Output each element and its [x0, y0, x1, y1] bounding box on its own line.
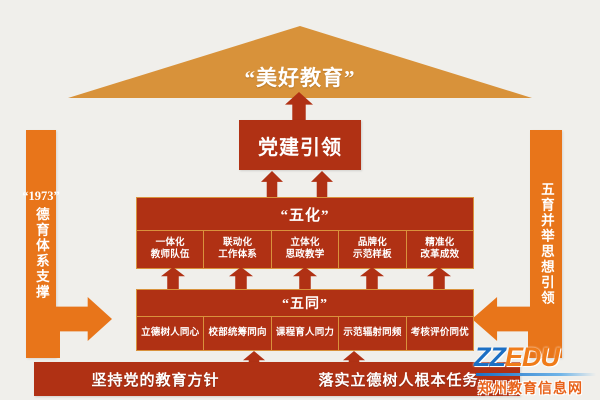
wuhua-cell-line1: 联动化 — [223, 238, 252, 250]
wuhua-title: “五化” — [137, 198, 473, 230]
wuhua-cell-line2: 思政教学 — [286, 250, 325, 262]
wuhua-cell-line2: 示范样板 — [353, 250, 392, 262]
wuhua-cells: 一体化 教师队伍 联动化 工作体系 立体化 思政教学 品牌化 示范样板 精准化 … — [137, 230, 473, 269]
wutong-cell[interactable]: 立德树人同心 — [137, 317, 204, 351]
arrow-up-wutong-to-wuhua-1-icon — [161, 267, 185, 289]
arrow-up-wutong-to-wuhua-4-icon — [360, 267, 384, 289]
pillar-right-label: 五育并举思想引领 — [537, 182, 555, 306]
pillar-left-label: 德育体系支撑 — [32, 207, 50, 300]
wuhua-cell-line1: 一体化 — [156, 238, 185, 250]
wuhua-cell-line2: 教师队伍 — [151, 250, 190, 262]
wuhua-cell-line1: 品牌化 — [358, 238, 387, 250]
wuhua-cell-line1: 立体化 — [290, 238, 319, 250]
wutong-group: “五同” 立德树人同心 校部统筹同向 课程育人同力 示范辐射同频 考核评价同优 — [136, 289, 474, 351]
arrow-up-wutong-to-wuhua-3-icon — [293, 267, 317, 289]
wutong-cell[interactable]: 示范辐射同频 — [339, 317, 406, 351]
wuhua-cell-line2: 工作体系 — [218, 250, 257, 262]
wutong-cell[interactable]: 考核评价同优 — [407, 317, 473, 351]
wuhua-group: “五化” 一体化 教师队伍 联动化 工作体系 立体化 思政教学 品牌化 示范样板… — [136, 197, 474, 269]
arrow-up-to-leadership-2-icon — [311, 171, 333, 197]
wutong-cells: 立德树人同心 校部统筹同向 课程育人同力 示范辐射同频 考核评价同优 — [137, 316, 473, 351]
foundation-left-label: 坚持党的教育方针 — [34, 369, 277, 390]
wuhua-cell[interactable]: 立体化 思政教学 — [272, 231, 339, 269]
wuhua-cell[interactable]: 联动化 工作体系 — [204, 231, 271, 269]
arrow-up-to-leadership-1-icon — [261, 171, 283, 197]
wuhua-cell[interactable]: 精准化 改革成效 — [407, 231, 473, 269]
leadership-box[interactable]: 党建引领 — [239, 120, 361, 170]
foundation-right-label: 落实立德树人根本任务 — [277, 369, 520, 390]
wuhua-cell-line1: 精准化 — [425, 238, 454, 250]
diagram-canvas: “美好教育” “1973” 德育体系支撑 五育并举思想引领 党建引领 “五化” … — [0, 0, 600, 400]
wutong-cell[interactable]: 校部统筹同向 — [204, 317, 271, 351]
arrow-up-wutong-to-wuhua-5-icon — [427, 267, 451, 289]
roof-label: “美好教育” — [68, 62, 532, 92]
foundation-bar: 坚持党的教育方针 落实立德树人根本任务 — [34, 362, 520, 396]
arrow-up-wutong-to-wuhua-2-icon — [229, 267, 253, 289]
wuhua-cell-line2: 改革成效 — [420, 250, 459, 262]
pillar-left-code: “1973” — [22, 189, 60, 204]
roof-shape: “美好教育” — [68, 26, 532, 98]
wuhua-cell[interactable]: 品牌化 示范样板 — [339, 231, 406, 269]
wutong-cell[interactable]: 课程育人同力 — [272, 317, 339, 351]
wuhua-cell[interactable]: 一体化 教师队伍 — [137, 231, 204, 269]
wutong-title: “五同” — [137, 290, 473, 316]
